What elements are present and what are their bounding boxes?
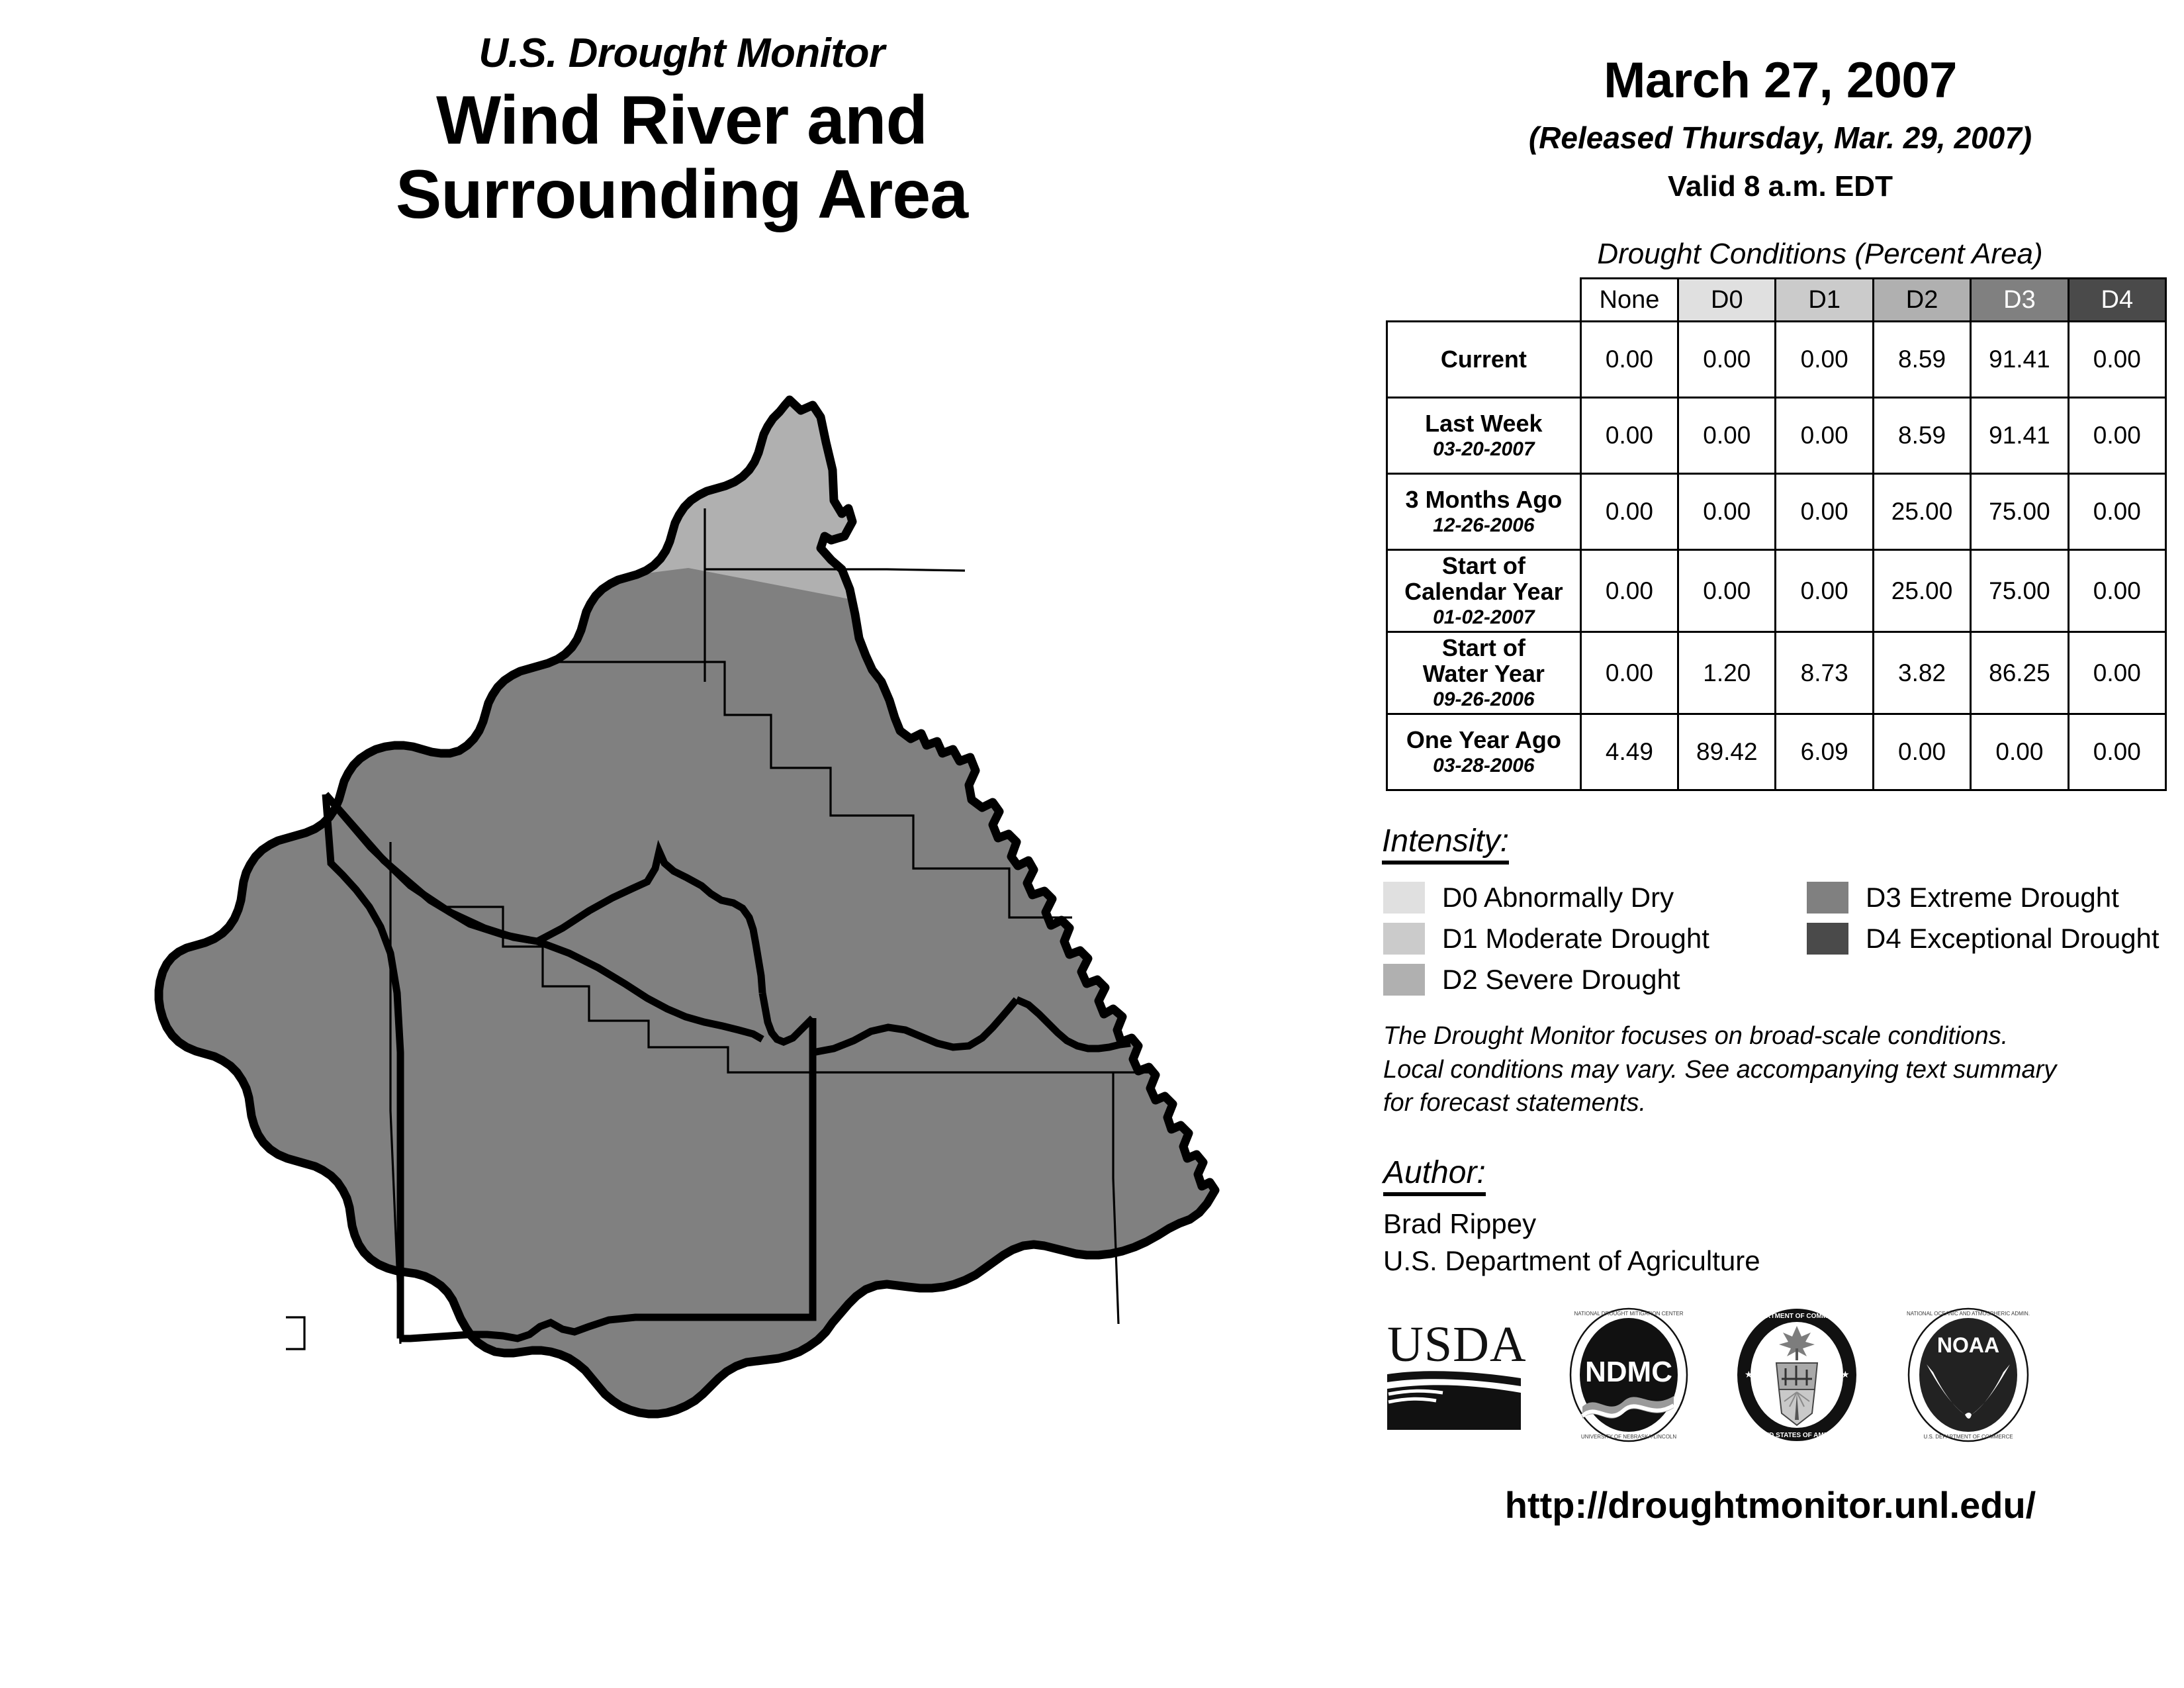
author-block: Brad Rippey U.S. Department of Agricultu… xyxy=(1383,1205,2184,1280)
cell-d0: 1.20 xyxy=(1678,632,1776,714)
cell-d2: 25.00 xyxy=(1873,474,1970,550)
col-header-none: None xyxy=(1580,279,1678,322)
cell-d0: 89.42 xyxy=(1678,714,1776,790)
page-title-line1: Wind River and xyxy=(0,83,1363,158)
row-label-text: 3 Months Ago xyxy=(1406,486,1563,513)
disclaimer-line-1: The Drought Monitor focuses on broad-sca… xyxy=(1383,1019,2184,1053)
row-label-text: Start of Water Year xyxy=(1423,634,1545,687)
page-supertitle: U.S. Drought Monitor xyxy=(0,33,1363,74)
cell-d3: 0.00 xyxy=(1971,714,2068,790)
cell-d1: 0.00 xyxy=(1776,322,1873,398)
row-label-text: Last Week xyxy=(1425,410,1542,437)
noaa-logo[interactable]: NOAA NATIONAL OCEANIC AND ATMOSPHERIC AD… xyxy=(1904,1307,2033,1446)
ndmc-logo[interactable]: NDMC NATIONAL DROUGHT MITIGATION CENTER … xyxy=(1568,1307,1690,1446)
legend-label-d0: D0 Abnormally Dry xyxy=(1442,882,1674,914)
row-label: Start of Water Year 09-26-2006 xyxy=(1387,632,1581,714)
legend-item-d0: D0 Abnormally Dry xyxy=(1383,882,1807,914)
page-title: Wind River and Surrounding Area xyxy=(0,83,1363,232)
svg-text:DEPARTMENT OF COMMERCE: DEPARTMENT OF COMMERCE xyxy=(1748,1313,1846,1320)
col-header-d2: D2 xyxy=(1873,279,1970,322)
legend-item-d1: D1 Moderate Drought xyxy=(1383,923,1807,955)
cell-d1: 6.09 xyxy=(1776,714,1873,790)
legend-label-d4: D4 Exceptional Drought xyxy=(1866,923,2160,955)
table-row: Start of Calendar Year 01-02-2007 0.00 0… xyxy=(1387,550,2166,632)
disclaimer-text: The Drought Monitor focuses on broad-sca… xyxy=(1383,1019,2184,1120)
swatch-d0-icon xyxy=(1383,882,1425,914)
usda-logo[interactable]: USDA xyxy=(1383,1317,1525,1436)
col-header-d0: D0 xyxy=(1678,279,1776,322)
svg-text:NATIONAL OCEANIC AND ATMOSPHER: NATIONAL OCEANIC AND ATMOSPHERIC ADMIN. xyxy=(1907,1311,2030,1317)
disclaimer-line-2: Local conditions may vary. See accompany… xyxy=(1383,1053,2184,1087)
row-label: Current xyxy=(1387,322,1581,398)
author-heading: Author: xyxy=(1383,1154,1486,1196)
row-label-text: One Year Ago xyxy=(1406,726,1561,753)
swatch-d1-icon xyxy=(1383,923,1425,955)
release-date: (Released Thursday, Mar. 29, 2007) xyxy=(1377,120,2184,156)
row-label: 3 Months Ago 12-26-2006 xyxy=(1387,474,1581,550)
table-caption: Drought Conditions (Percent Area) xyxy=(1377,238,2184,271)
table-header-row: None D0 D1 D2 D3 D4 xyxy=(1387,279,2166,322)
cell-d0: 0.00 xyxy=(1678,474,1776,550)
cell-d3: 91.41 xyxy=(1971,322,2068,398)
cell-none: 0.00 xyxy=(1580,398,1678,474)
row-label-text: Current xyxy=(1441,346,1527,373)
swatch-d3-icon xyxy=(1807,882,1848,914)
cell-d3: 86.25 xyxy=(1971,632,2068,714)
legend-item-d2: D2 Severe Drought xyxy=(1383,964,1807,996)
cell-d1: 0.00 xyxy=(1776,398,1873,474)
report-date: March 27, 2007 xyxy=(1377,52,2184,109)
cell-d0: 0.00 xyxy=(1678,322,1776,398)
cell-d3: 75.00 xyxy=(1971,474,2068,550)
svg-text:UNITED STATES OF AMERICA: UNITED STATES OF AMERICA xyxy=(1749,1432,1844,1439)
info-panel: March 27, 2007 (Released Thursday, Mar. … xyxy=(1377,0,2184,1688)
table-row: Start of Water Year 09-26-2006 0.00 1.20… xyxy=(1387,632,2166,714)
doc-seal-logo[interactable]: DEPARTMENT OF COMMERCE UNITED STATES OF … xyxy=(1733,1307,1862,1446)
row-label-date: 12-26-2006 xyxy=(1390,515,1577,536)
row-label-date: 03-28-2006 xyxy=(1390,755,1577,776)
author-org: U.S. Department of Agriculture xyxy=(1383,1243,2184,1280)
col-header-d3: D3 xyxy=(1971,279,2068,322)
row-label-date: 09-26-2006 xyxy=(1390,689,1577,710)
table-corner-cell xyxy=(1387,279,1581,322)
cell-d3: 91.41 xyxy=(1971,398,2068,474)
cell-d0: 0.00 xyxy=(1678,550,1776,632)
col-header-d4: D4 xyxy=(2068,279,2165,322)
cell-d2: 8.59 xyxy=(1873,322,1970,398)
cell-d4: 0.00 xyxy=(2068,474,2165,550)
table-row: Last Week 03-20-2007 0.00 0.00 0.00 8.59… xyxy=(1387,398,2166,474)
date-block: March 27, 2007 (Released Thursday, Mar. … xyxy=(1377,0,2184,203)
cell-d2: 3.82 xyxy=(1873,632,1970,714)
website-url[interactable]: http://droughtmonitor.unl.edu/ xyxy=(1377,1483,2184,1526)
legend-label-d1: D1 Moderate Drought xyxy=(1442,923,1709,955)
map-title-block: U.S. Drought Monitor Wind River and Surr… xyxy=(0,33,1363,232)
legend-label-d2: D2 Severe Drought xyxy=(1442,964,1680,996)
agency-logos: USDA NDMC NATIONAL DROUGHT MITIGATION CE… xyxy=(1383,1307,2184,1446)
legend-item-d4: D4 Exceptional Drought xyxy=(1807,923,2184,955)
table-row: 3 Months Ago 12-26-2006 0.00 0.00 0.00 2… xyxy=(1387,474,2166,550)
row-label: Start of Calendar Year 01-02-2007 xyxy=(1387,550,1581,632)
cell-none: 4.49 xyxy=(1580,714,1678,790)
noaa-logo-text: NOAA xyxy=(1937,1333,1999,1357)
swatch-d2-icon xyxy=(1383,964,1425,996)
cell-d1: 0.00 xyxy=(1776,474,1873,550)
usda-logo-text: USDA xyxy=(1387,1317,1525,1372)
cell-d4: 0.00 xyxy=(2068,632,2165,714)
cell-d1: 8.73 xyxy=(1776,632,1873,714)
drought-map[interactable] xyxy=(40,371,1363,1483)
cell-d4: 0.00 xyxy=(2068,714,2165,790)
page-title-line2: Surrounding Area xyxy=(0,158,1363,232)
intensity-heading: Intensity: xyxy=(1382,823,1509,865)
table-row: One Year Ago 03-28-2006 4.49 89.42 6.09 … xyxy=(1387,714,2166,790)
cell-d4: 0.00 xyxy=(2068,398,2165,474)
svg-text:★: ★ xyxy=(1745,1369,1753,1380)
legend-label-d3: D3 Extreme Drought xyxy=(1866,882,2119,914)
valid-time: Valid 8 a.m. EDT xyxy=(1377,170,2184,203)
svg-text:UNIVERSITY OF NEBRASKA-LINCOLN: UNIVERSITY OF NEBRASKA-LINCOLN xyxy=(1581,1434,1677,1440)
cell-none: 0.00 xyxy=(1580,550,1678,632)
cell-d2: 8.59 xyxy=(1873,398,1970,474)
swatch-d4-icon xyxy=(1807,923,1848,955)
cell-d2: 0.00 xyxy=(1873,714,1970,790)
svg-text:NATIONAL DROUGHT MITIGATION CE: NATIONAL DROUGHT MITIGATION CENTER xyxy=(1574,1311,1683,1317)
intensity-legend: D0 Abnormally Dry D3 Extreme Drought D1 … xyxy=(1383,882,2184,996)
disclaimer-line-3: for forecast statements. xyxy=(1383,1086,2184,1120)
row-label-date: 01-02-2007 xyxy=(1390,607,1577,628)
svg-text:★: ★ xyxy=(1841,1369,1850,1380)
cell-d4: 0.00 xyxy=(2068,550,2165,632)
cell-none: 0.00 xyxy=(1580,322,1678,398)
cell-d0: 0.00 xyxy=(1678,398,1776,474)
row-label-date: 03-20-2007 xyxy=(1390,439,1577,460)
author-name: Brad Rippey xyxy=(1383,1205,2184,1243)
map-svg xyxy=(40,371,1363,1483)
drought-conditions-table: None D0 D1 D2 D3 D4 Current 0.00 0.00 0.… xyxy=(1386,277,2167,791)
row-label-text: Start of Calendar Year xyxy=(1404,552,1563,605)
row-label: Last Week 03-20-2007 xyxy=(1387,398,1581,474)
row-label: One Year Ago 03-28-2006 xyxy=(1387,714,1581,790)
cell-d2: 25.00 xyxy=(1873,550,1970,632)
cell-none: 0.00 xyxy=(1580,632,1678,714)
ndmc-logo-text: NDMC xyxy=(1585,1356,1672,1388)
cell-d3: 75.00 xyxy=(1971,550,2068,632)
cell-none: 0.00 xyxy=(1580,474,1678,550)
cell-d1: 0.00 xyxy=(1776,550,1873,632)
table-row: Current 0.00 0.00 0.00 8.59 91.41 0.00 xyxy=(1387,322,2166,398)
svg-text:U.S. DEPARTMENT OF COMMERCE: U.S. DEPARTMENT OF COMMERCE xyxy=(1923,1434,2013,1440)
legend-item-d3: D3 Extreme Drought xyxy=(1807,882,2184,914)
col-header-d1: D1 xyxy=(1776,279,1873,322)
cell-d4: 0.00 xyxy=(2068,322,2165,398)
